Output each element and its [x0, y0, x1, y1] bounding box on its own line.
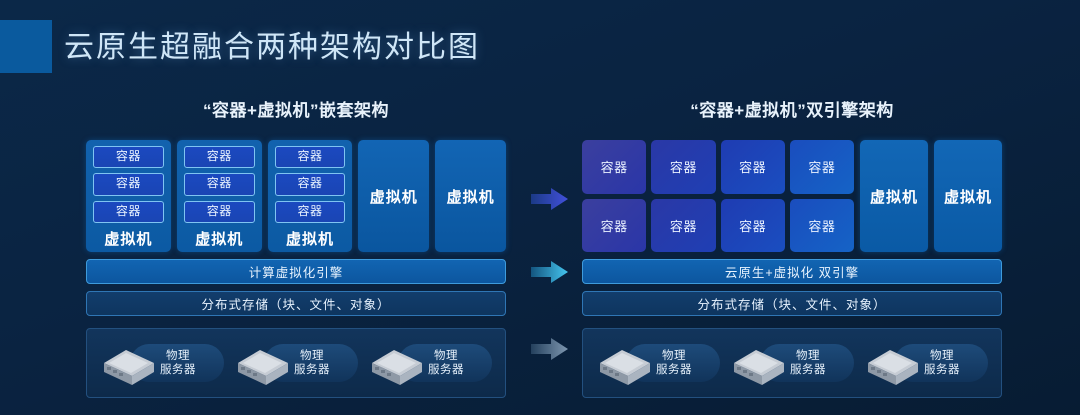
- page-header: 云原生超融合两种架构对比图: [0, 0, 1080, 88]
- physical-server-item[interactable]: 物理 服务器: [100, 340, 224, 386]
- left-engine-band[interactable]: 计算虚拟化引擎: [86, 259, 506, 284]
- title-accent-block: [0, 20, 52, 73]
- server-icon: [368, 341, 426, 385]
- server-label: 物理 服务器: [656, 349, 692, 377]
- container-box[interactable]: 容器: [184, 201, 255, 223]
- server-label-line1: 物理: [434, 350, 458, 362]
- container-box[interactable]: 容器: [275, 201, 346, 223]
- vm-block[interactable]: 虚拟机: [435, 140, 506, 252]
- nested-vm-label: 虚拟机: [275, 228, 346, 252]
- server-label-line2: 服务器: [160, 364, 196, 376]
- container-box[interactable]: 容器: [582, 199, 646, 253]
- container-box[interactable]: 容器: [93, 173, 164, 195]
- container-box[interactable]: 容器: [651, 199, 715, 253]
- container-box[interactable]: 容器: [93, 146, 164, 168]
- page-title: 云原生超融合两种架构对比图: [64, 22, 480, 66]
- container-box[interactable]: 容器: [790, 199, 854, 253]
- server-label-line1: 物理: [796, 350, 820, 362]
- server-label-line1: 物理: [300, 350, 324, 362]
- container-box[interactable]: 容器: [184, 173, 255, 195]
- server-label-line2: 服务器: [294, 364, 330, 376]
- container-box[interactable]: 容器: [184, 146, 255, 168]
- server-label: 物理 服务器: [428, 349, 464, 377]
- server-label: 物理 服务器: [924, 349, 960, 377]
- server-label: 物理 服务器: [160, 349, 196, 377]
- server-label-line1: 物理: [930, 350, 954, 362]
- nested-vm-label: 虚拟机: [93, 228, 164, 252]
- server-label-line2: 服务器: [924, 364, 960, 376]
- arrow-compute-icon: [531, 186, 569, 212]
- container-grid: 容器 容器 容器 容器 容器 容器 容器 容器: [582, 140, 854, 252]
- server-label-line1: 物理: [662, 350, 686, 362]
- server-label-line2: 服务器: [656, 364, 692, 376]
- nested-vm-block[interactable]: 容器 容器 容器 虚拟机: [177, 140, 262, 252]
- server-label-line1: 物理: [166, 350, 190, 362]
- container-box[interactable]: 容器: [790, 140, 854, 194]
- left-server-band: 物理 服务器 物理 服务器: [86, 328, 506, 398]
- container-box[interactable]: 容器: [275, 146, 346, 168]
- nested-vm-block[interactable]: 容器 容器 容器 虚拟机: [86, 140, 171, 252]
- left-panel-title: “容器+虚拟机”嵌套架构: [86, 100, 506, 128]
- physical-server-item[interactable]: 物理 服务器: [234, 340, 358, 386]
- left-storage-band[interactable]: 分布式存储（块、文件、对象）: [86, 291, 506, 316]
- left-compute-row: 容器 容器 容器 虚拟机 容器 容器 容器 虚拟机 容器 容器 容器 虚拟机 虚…: [86, 140, 506, 252]
- vm-block[interactable]: 虚拟机: [934, 140, 1002, 252]
- right-compute-row: 容器 容器 容器 容器 容器 容器 容器 容器 虚拟机 虚拟机: [582, 140, 1002, 252]
- server-label: 物理 服务器: [294, 349, 330, 377]
- right-engine-band[interactable]: 云原生+虚拟化 双引擎: [582, 259, 1002, 284]
- container-box[interactable]: 容器: [582, 140, 646, 194]
- physical-server-item[interactable]: 物理 服务器: [864, 340, 988, 386]
- right-panel-title: “容器+虚拟机”双引擎架构: [582, 100, 1002, 128]
- container-box[interactable]: 容器: [93, 201, 164, 223]
- container-box[interactable]: 容器: [275, 173, 346, 195]
- left-architecture-panel: “容器+虚拟机”嵌套架构 容器 容器 容器 虚拟机 容器 容器 容器 虚拟机 容…: [86, 100, 506, 400]
- vm-block[interactable]: 虚拟机: [358, 140, 429, 252]
- server-icon: [730, 341, 788, 385]
- server-icon: [100, 341, 158, 385]
- arrow-engine-icon: [531, 259, 569, 285]
- arrow-server-icon: [531, 336, 569, 362]
- physical-server-item[interactable]: 物理 服务器: [368, 340, 492, 386]
- container-box[interactable]: 容器: [721, 140, 785, 194]
- server-label: 物理 服务器: [790, 349, 826, 377]
- server-label-line2: 服务器: [790, 364, 826, 376]
- server-icon: [864, 341, 922, 385]
- right-storage-band[interactable]: 分布式存储（块、文件、对象）: [582, 291, 1002, 316]
- physical-server-item[interactable]: 物理 服务器: [596, 340, 720, 386]
- container-box[interactable]: 容器: [721, 199, 785, 253]
- server-label-line2: 服务器: [428, 364, 464, 376]
- vm-block[interactable]: 虚拟机: [860, 140, 928, 252]
- nested-vm-label: 虚拟机: [184, 228, 255, 252]
- server-icon: [234, 341, 292, 385]
- container-box[interactable]: 容器: [651, 140, 715, 194]
- nested-vm-block[interactable]: 容器 容器 容器 虚拟机: [268, 140, 353, 252]
- right-server-band: 物理 服务器 物理 服务器: [582, 328, 1002, 398]
- right-architecture-panel: “容器+虚拟机”双引擎架构 容器 容器 容器 容器 容器 容器 容器 容器 虚拟…: [582, 100, 1002, 400]
- server-icon: [596, 341, 654, 385]
- physical-server-item[interactable]: 物理 服务器: [730, 340, 854, 386]
